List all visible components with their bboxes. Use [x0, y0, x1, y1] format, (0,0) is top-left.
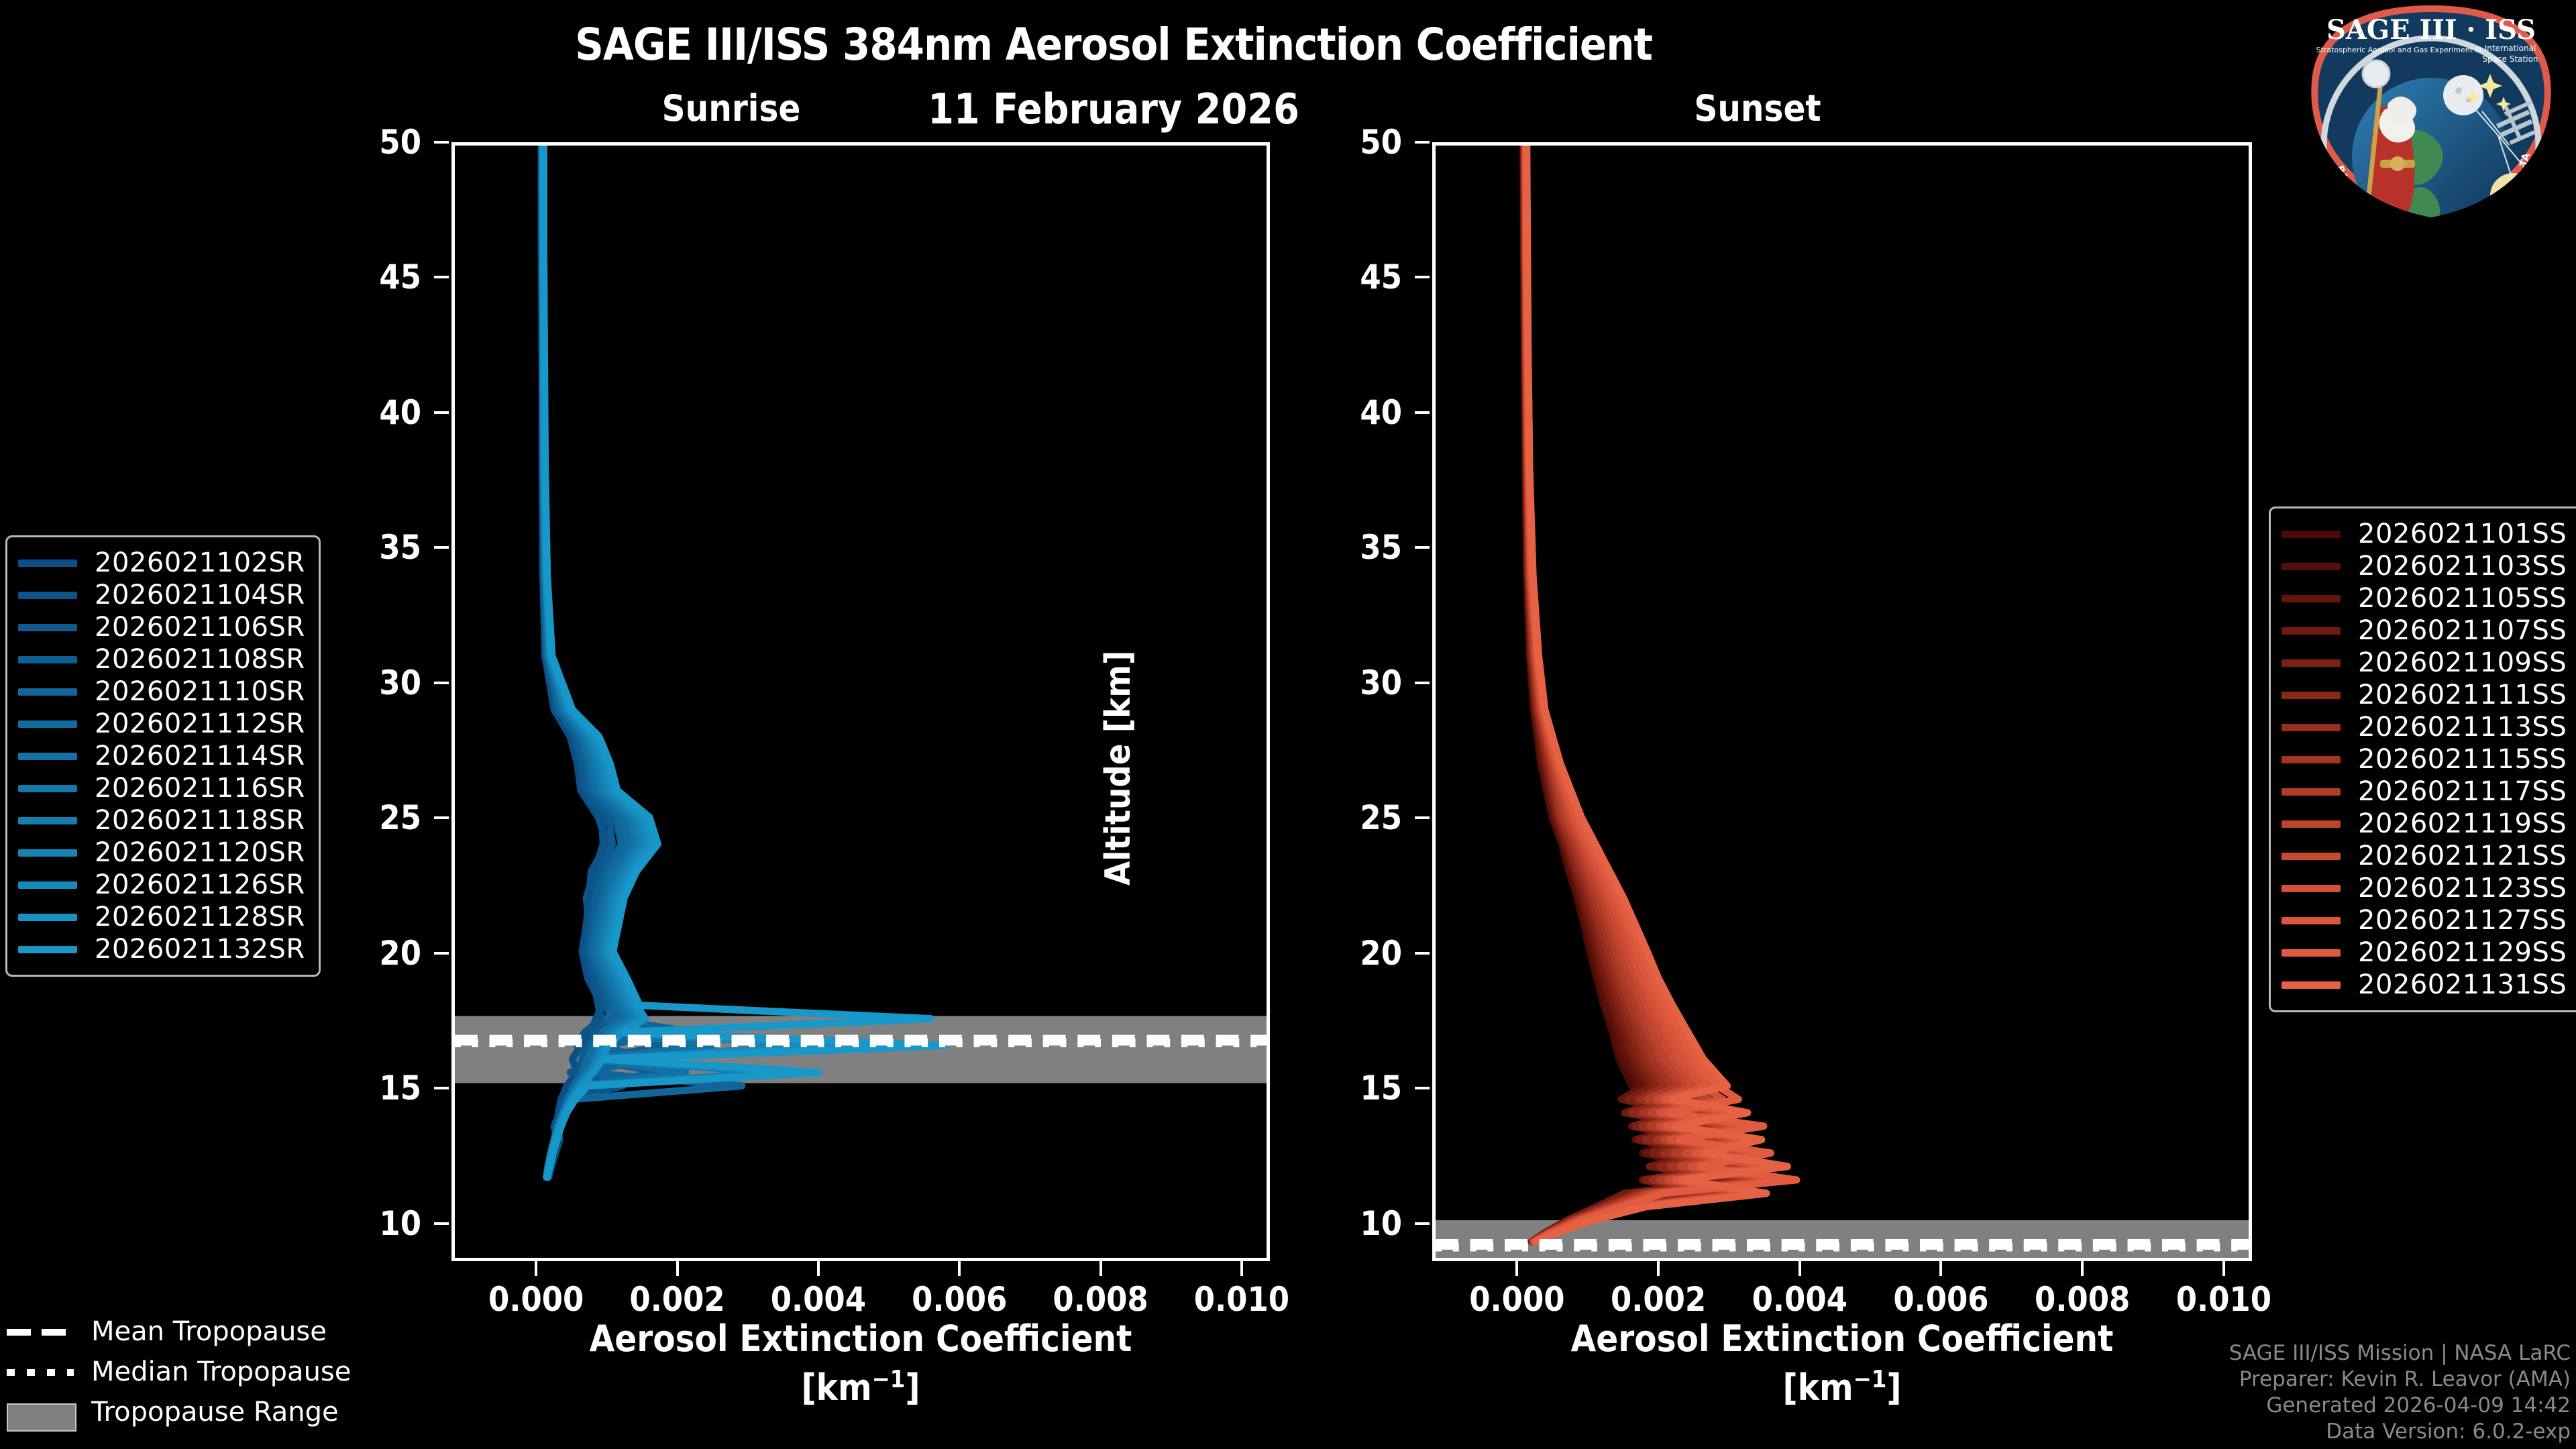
legend-item[interactable]: 2026021109SS	[2282, 647, 2567, 679]
y-axis-tick-label: 30	[1301, 663, 1402, 702]
y-axis-tick	[434, 1087, 449, 1089]
legend-item-mean-tropopause[interactable]: Mean Tropopause	[7, 1311, 356, 1352]
legend-label: 2026021131SS	[2358, 969, 2567, 1000]
legend-item[interactable]: 2026021104SR	[18, 579, 305, 611]
legend-item[interactable]: 2026021108SR	[18, 643, 305, 676]
legend-label: 2026021127SS	[2358, 905, 2567, 936]
legend-color-swatch	[18, 656, 77, 663]
x-axis-tick-label: 0.008	[2035, 1280, 2130, 1319]
y-axis-tick-label: 50	[1301, 123, 1402, 162]
legend-color-swatch	[18, 559, 77, 567]
legend-label: 2026021117SS	[2358, 776, 2567, 807]
sunset-x-axis-unit: [km−1]	[1432, 1366, 2252, 1409]
legend-item[interactable]: 2026021101SS	[2282, 518, 2567, 550]
legend-label: 2026021114SR	[95, 741, 305, 771]
legend-item[interactable]: 2026021126SR	[18, 869, 305, 901]
x-axis-tick	[1799, 1261, 1801, 1276]
legend-color-swatch	[2282, 917, 2341, 924]
footer-line-dataversion: Data Version: 6.0.2-exp	[2229, 1419, 2571, 1445]
dashed-line-icon	[7, 1322, 74, 1342]
legend-color-swatch	[2282, 885, 2341, 892]
legend-label: 2026021123SS	[2358, 873, 2567, 904]
sunrise-x-axis-unit: [km−1]	[451, 1366, 1270, 1409]
legend-label: 2026021115SS	[2358, 744, 2567, 775]
legend-item[interactable]: 2026021131SS	[2282, 969, 2567, 1001]
x-axis-tick-label: 0.002	[1611, 1280, 1706, 1319]
footer-line-preparer: Preparer: Kevin R. Leavor (AMA)	[2229, 1366, 2571, 1393]
y-axis-tick-label: 15	[1301, 1069, 1402, 1108]
legend-item-tropopause-range[interactable]: Tropopause Range	[7, 1392, 356, 1432]
legend-item[interactable]: 2026021112SR	[18, 708, 305, 740]
y-axis-tick	[1415, 1222, 1430, 1225]
footer-credits: SAGE III/ISS Mission | NASA LaRC Prepare…	[2229, 1340, 2571, 1445]
y-axis-tick-label: 20	[1301, 934, 1402, 973]
sunrise-panel-title: Sunrise	[604, 87, 859, 129]
legend-label: 2026021105SS	[2358, 583, 2567, 614]
sunrise-x-axis-label: Aerosol Extinction Coefficient	[451, 1318, 1270, 1360]
x-axis-tick	[676, 1261, 679, 1276]
x-axis-tick-label: 0.004	[1752, 1280, 1847, 1319]
legend-color-swatch	[2282, 627, 2341, 635]
x-axis-tick	[1515, 1261, 1518, 1276]
y-axis-tick-label: 40	[1301, 393, 1402, 432]
x-axis-tick-label: 0.000	[1469, 1280, 1564, 1319]
legend-color-swatch	[18, 592, 77, 599]
x-axis-tick	[2081, 1261, 2084, 1276]
sunset-plot-area[interactable]	[1432, 142, 2252, 1261]
legend-color-swatch	[2282, 853, 2341, 860]
legend-item[interactable]: 2026021129SS	[2282, 936, 2567, 969]
legend-label: 2026021129SS	[2358, 937, 2567, 968]
x-axis-tick	[2222, 1261, 2225, 1276]
legend-color-swatch	[18, 753, 77, 760]
legend-color-swatch	[18, 817, 77, 824]
legend-label: 2026021109SS	[2358, 647, 2567, 678]
filled-band-icon	[7, 1402, 74, 1422]
legend-color-swatch	[2282, 820, 2341, 828]
legend-label-mean-tropopause: Mean Tropopause	[91, 1316, 327, 1347]
legend-color-swatch	[2282, 788, 2341, 796]
legend-label-median-tropopause: Median Tropopause	[91, 1356, 351, 1387]
y-axis-tick	[1415, 816, 1430, 819]
legend-color-swatch	[2282, 692, 2341, 699]
x-axis-tick-label: 0.010	[1194, 1280, 1289, 1319]
legend-item[interactable]: 2026021103SS	[2282, 550, 2567, 582]
sunrise-y-axis: 101520253035404550	[451, 142, 452, 1261]
y-axis-tick	[1415, 1087, 1430, 1089]
legend-label: 2026021128SR	[95, 902, 305, 932]
x-axis-tick-label: 0.008	[1053, 1280, 1148, 1319]
y-axis-tick	[1415, 546, 1430, 549]
legend-item[interactable]: 2026021127SS	[2282, 904, 2567, 936]
legend-label: 2026021101SS	[2358, 519, 2567, 549]
x-axis-tick-label: 0.010	[2176, 1280, 2271, 1319]
x-axis-tick	[1240, 1261, 1243, 1276]
tropopause-legend: Mean Tropopause Median Tropopause Tropop…	[7, 1311, 356, 1432]
legend-item[interactable]: 2026021105SS	[2282, 582, 2567, 614]
y-axis-tick	[434, 546, 449, 549]
y-axis-tick-label: 10	[1301, 1204, 1402, 1243]
y-axis-tick	[434, 411, 449, 414]
legend-label: 2026021102SR	[95, 547, 305, 578]
legend-item[interactable]: 2026021111SS	[2282, 679, 2567, 711]
x-axis-tick-label: 0.004	[771, 1280, 866, 1319]
y-axis-tick-label: 35	[1301, 528, 1402, 567]
sunrise-series-legend[interactable]: 2026021102SR2026021104SR2026021106SR2026…	[5, 535, 321, 977]
x-axis-tick-label: 0.006	[912, 1280, 1007, 1319]
footer-line-mission: SAGE III/ISS Mission | NASA LaRC	[2229, 1340, 2571, 1366]
legend-color-swatch	[18, 849, 77, 857]
legend-item[interactable]: 2026021115SS	[2282, 743, 2567, 775]
sunset-x-axis-label: Aerosol Extinction Coefficient	[1432, 1318, 2252, 1360]
legend-item[interactable]: 2026021121SS	[2282, 840, 2567, 872]
sage-iii-iss-mission-patch-logo: BALL · NASA LANGLEY RESEARCH CENTER · TA…	[2297, 1, 2565, 223]
y-axis-tick	[434, 682, 449, 684]
legend-item-median-tropopause[interactable]: Median Tropopause	[7, 1352, 356, 1392]
legend-item[interactable]: 2026021123SS	[2282, 872, 2567, 904]
legend-color-swatch	[2282, 981, 2341, 989]
legend-label-tropopause-range: Tropopause Range	[91, 1397, 339, 1428]
x-axis-tick	[1099, 1261, 1102, 1276]
legend-label: 2026021120SR	[95, 837, 305, 868]
legend-color-swatch	[2282, 949, 2341, 957]
legend-label: 2026021110SR	[95, 676, 305, 707]
y-axis-tick-label: 15	[321, 1069, 421, 1108]
sunrise-x-axis: 0.0000.0020.0040.0060.0080.010	[451, 1261, 1270, 1262]
sunset-x-axis: 0.0000.0020.0040.0060.0080.010	[1432, 1261, 2252, 1262]
x-axis-tick	[535, 1261, 537, 1276]
legend-label: 2026021112SR	[95, 708, 305, 739]
legend-item[interactable]: 2026021110SR	[18, 676, 305, 708]
legend-color-swatch	[18, 914, 77, 921]
legend-label: 2026021126SR	[95, 869, 305, 900]
legend-label: 2026021132SR	[95, 934, 305, 965]
y-axis-tick	[434, 952, 449, 955]
x-axis-tick	[958, 1261, 961, 1276]
sunset-panel-title: Sunset	[1630, 87, 1885, 129]
legend-label: 2026021103SS	[2358, 551, 2567, 582]
legend-label: 2026021107SS	[2358, 615, 2567, 646]
dotted-line-icon	[7, 1362, 74, 1382]
y-axis-tick	[1415, 276, 1430, 278]
legend-label: 2026021119SS	[2358, 808, 2567, 839]
y-axis-tick-label: 25	[321, 798, 421, 837]
legend-item[interactable]: 2026021116SR	[18, 772, 305, 804]
legend-label: 2026021108SR	[95, 644, 305, 675]
x-axis-tick	[1657, 1261, 1660, 1276]
legend-label: 2026021113SS	[2358, 712, 2567, 743]
sunset-series-legend[interactable]: 2026021101SS2026021103SS2026021105SS2026…	[2269, 506, 2576, 1012]
legend-item[interactable]: 2026021114SR	[18, 740, 305, 772]
legend-item[interactable]: 2026021120SR	[18, 837, 305, 869]
logo-subtitle-right-2: Space Station	[2482, 54, 2538, 64]
legend-item[interactable]: 2026021128SR	[18, 901, 305, 933]
logo-subtitle-left: Stratospheric Aerosol and Gas Experiment…	[2316, 46, 2482, 54]
y-axis-tick-label: 20	[321, 934, 421, 973]
legend-item[interactable]: 2026021132SR	[18, 933, 305, 965]
y-axis-tick-label: 45	[1301, 258, 1402, 297]
y-axis-tick-label: 25	[1301, 798, 1402, 837]
footer-line-generated: Generated 2026-04-09 14:42	[2229, 1393, 2571, 1419]
y-axis-tick	[1415, 411, 1430, 414]
legend-color-swatch	[18, 881, 77, 889]
legend-label: 2026021121SS	[2358, 841, 2567, 871]
legend-label: 2026021116SR	[95, 773, 305, 804]
legend-color-swatch	[2282, 595, 2341, 602]
legend-color-swatch	[2282, 659, 2341, 667]
y-axis-tick-label: 40	[321, 393, 421, 432]
y-axis-tick	[1415, 682, 1430, 684]
legend-color-swatch	[2282, 756, 2341, 763]
y-axis-tick-label: 50	[321, 123, 421, 162]
y-axis-tick	[434, 816, 449, 819]
y-axis-tick-label: 35	[321, 528, 421, 567]
legend-color-swatch	[18, 946, 77, 953]
logo-subtitle-right-1: International	[2485, 44, 2536, 53]
page-title: SAGE III/ISS 384nm Aerosol Extinction Co…	[0, 19, 2227, 70]
y-axis-tick	[1415, 141, 1430, 144]
x-axis-tick-label: 0.002	[629, 1280, 724, 1319]
y-axis-tick-label: 30	[321, 663, 421, 702]
legend-item[interactable]: 2026021106SR	[18, 611, 305, 643]
legend-item[interactable]: 2026021119SS	[2282, 808, 2567, 840]
logo-title-text: SAGE III · ISS	[2326, 14, 2536, 46]
legend-color-swatch	[18, 720, 77, 728]
sunset-y-axis: 101520253035404550	[1432, 142, 1433, 1261]
y-axis-tick	[434, 276, 449, 278]
y-axis-tick-label: 45	[321, 258, 421, 297]
legend-label: 2026021104SR	[95, 580, 305, 610]
sunset-y-axis-label: Altitude [km]	[1098, 550, 1138, 885]
legend-label: 2026021106SR	[95, 612, 305, 643]
legend-color-swatch	[18, 785, 77, 792]
legend-label: 2026021118SR	[95, 805, 305, 836]
y-axis-tick	[434, 141, 449, 144]
y-axis-tick	[434, 1222, 449, 1225]
legend-color-swatch	[18, 688, 77, 696]
legend-color-swatch	[2282, 563, 2341, 570]
legend-item[interactable]: 2026021118SR	[18, 804, 305, 837]
sunrise-plot-area[interactable]	[451, 142, 1270, 1261]
legend-item[interactable]: 2026021113SS	[2282, 711, 2567, 743]
y-axis-tick-label: 10	[321, 1204, 421, 1243]
legend-color-swatch	[2282, 724, 2341, 731]
legend-item[interactable]: 2026021102SR	[18, 547, 305, 579]
x-axis-tick-label: 0.006	[1893, 1280, 1988, 1319]
x-axis-tick	[817, 1261, 820, 1276]
legend-item[interactable]: 2026021107SS	[2282, 614, 2567, 647]
x-axis-tick-label: 0.000	[488, 1280, 584, 1319]
legend-item[interactable]: 2026021117SS	[2282, 775, 2567, 808]
legend-color-swatch	[2282, 531, 2341, 538]
legend-label: 2026021111SS	[2358, 680, 2567, 710]
x-axis-tick	[1939, 1261, 1942, 1276]
legend-color-swatch	[18, 624, 77, 631]
y-axis-tick	[1415, 952, 1430, 955]
